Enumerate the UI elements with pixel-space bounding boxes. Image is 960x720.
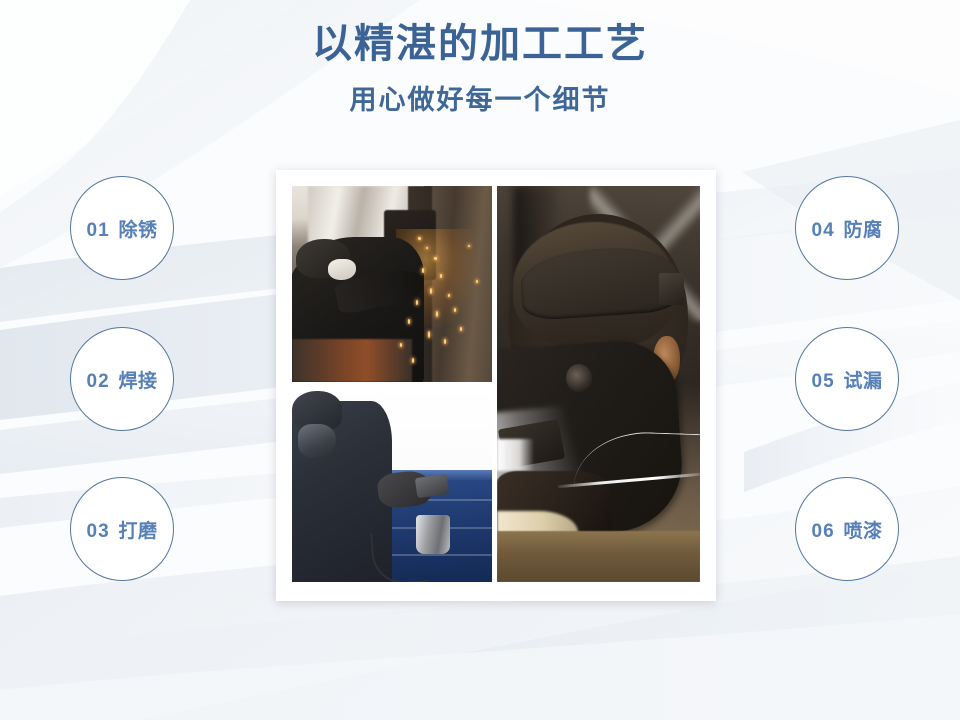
spark-particle bbox=[400, 343, 402, 347]
step-circle-05-text: 试漏 bbox=[843, 371, 882, 392]
step-circle-01-number: 01 bbox=[87, 220, 110, 241]
step-circle-06-text: 喷漆 bbox=[843, 521, 882, 542]
spark-particle bbox=[428, 331, 430, 338]
step-circle-02-label: 02 焊接 bbox=[87, 366, 158, 393]
step-circle-05[interactable]: 05 试漏 bbox=[795, 327, 899, 431]
spark-particle bbox=[430, 288, 432, 294]
step-circle-01[interactable]: 01 除锈 bbox=[70, 176, 174, 280]
spark-particle bbox=[434, 257, 437, 260]
welder-worktable bbox=[497, 531, 700, 582]
step-circle-04[interactable]: 04 防腐 bbox=[795, 176, 899, 280]
photo-collage-grid bbox=[292, 186, 700, 585]
welder-helmet-adjuster bbox=[659, 273, 683, 305]
step-circle-01-text: 除锈 bbox=[118, 220, 157, 241]
step-circle-03-number: 03 bbox=[87, 521, 110, 542]
step-circle-06[interactable]: 06 喷漆 bbox=[795, 477, 899, 581]
photo-collage-frame bbox=[276, 170, 716, 601]
grinding-worker-mask bbox=[328, 259, 356, 281]
photo-grinding-sparks bbox=[292, 186, 492, 382]
step-circle-03[interactable]: 03 打磨 bbox=[70, 477, 174, 581]
spark-particle bbox=[444, 339, 446, 344]
photo-welder-helmet bbox=[497, 186, 700, 582]
welder-arc-glare bbox=[497, 439, 534, 471]
step-circle-05-label: 05 试漏 bbox=[812, 366, 883, 393]
spray-gun-body bbox=[415, 473, 449, 497]
step-circle-03-label: 03 打磨 bbox=[87, 516, 158, 543]
spark-particle bbox=[418, 237, 421, 240]
spark-particle bbox=[468, 245, 470, 247]
step-circle-04-text: 防腐 bbox=[843, 220, 882, 241]
spark-particle bbox=[448, 294, 450, 297]
page-subtitle: 用心做好每一个细节 bbox=[0, 86, 960, 116]
page-title: 以精湛的加工工艺 bbox=[0, 22, 960, 66]
step-circle-06-number: 06 bbox=[812, 521, 835, 542]
step-circle-04-label: 04 防腐 bbox=[812, 215, 883, 242]
step-circle-02[interactable]: 02 焊接 bbox=[70, 327, 174, 431]
step-circle-05-number: 05 bbox=[812, 371, 835, 392]
step-circle-04-number: 04 bbox=[812, 220, 835, 241]
photo-spray-painting bbox=[292, 385, 492, 582]
slide-canvas: 以精湛的加工工艺 用心做好每一个细节 01 除锈 02 焊接 03 打磨 04 … bbox=[0, 0, 960, 720]
step-circle-01-label: 01 除锈 bbox=[87, 215, 158, 242]
spark-particle bbox=[426, 247, 428, 249]
step-circle-03-text: 打磨 bbox=[118, 521, 157, 542]
step-circle-06-label: 06 喷漆 bbox=[812, 516, 883, 543]
spark-particle bbox=[416, 300, 418, 305]
welder-shield-pivot-knob bbox=[566, 364, 592, 392]
step-circle-02-number: 02 bbox=[87, 371, 110, 392]
header-block: 以精湛的加工工艺 用心做好每一个细节 bbox=[0, 22, 960, 116]
grinding-floor bbox=[292, 339, 412, 382]
step-circle-02-text: 焊接 bbox=[118, 371, 157, 392]
spark-particle bbox=[454, 308, 456, 312]
